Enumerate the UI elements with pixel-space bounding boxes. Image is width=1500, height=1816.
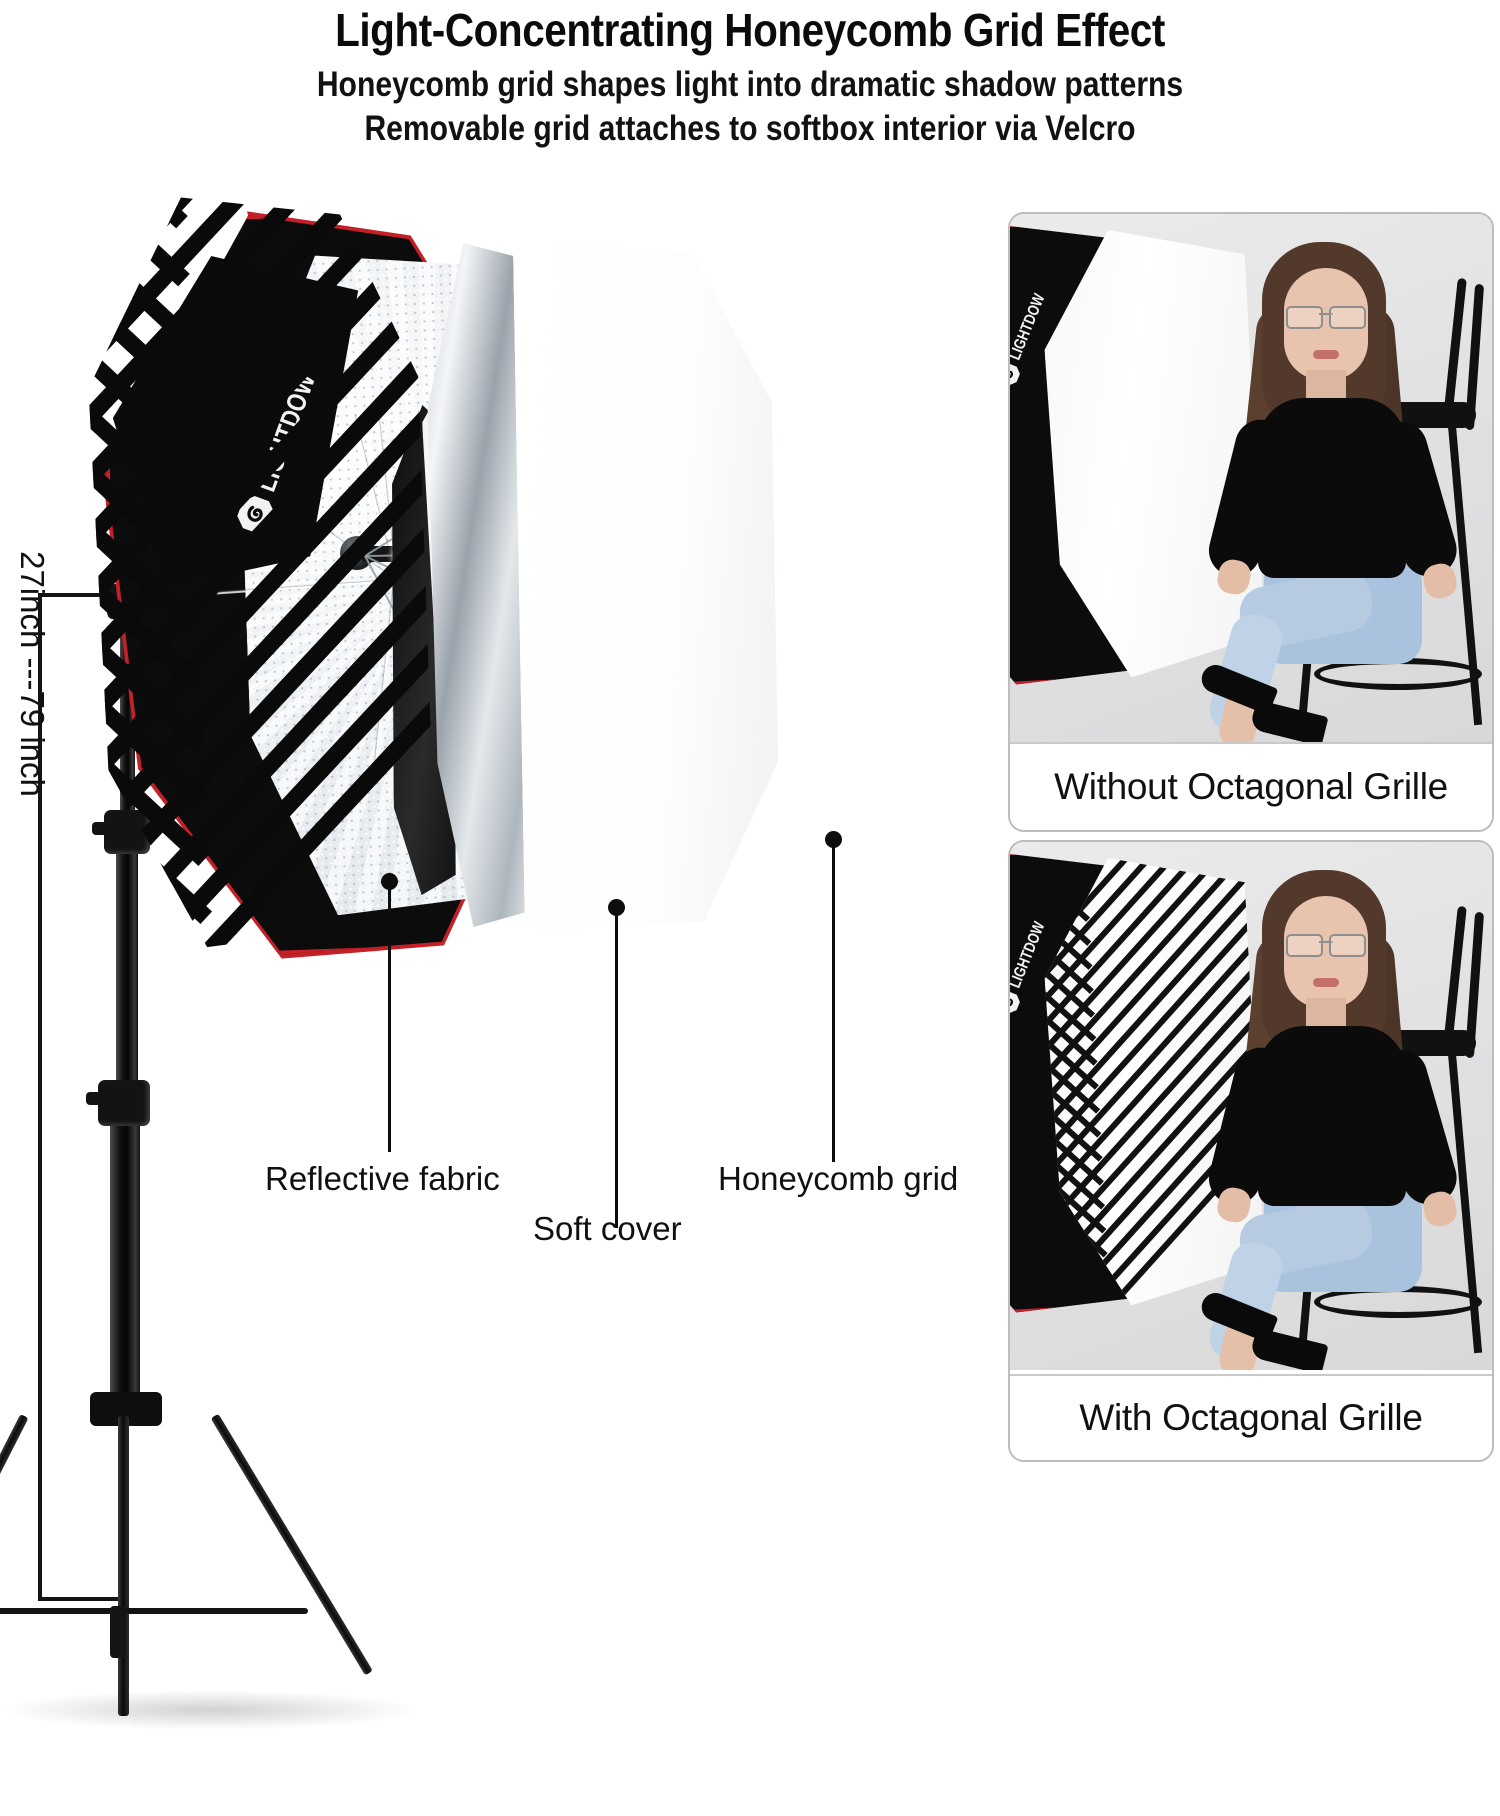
model-shoe-right: [1249, 1327, 1328, 1370]
octagon-swirl-logo-icon: [1010, 360, 1023, 389]
honeycomb-grid-line: [1010, 1347, 1131, 1370]
eyeglass-lens-right: [1329, 306, 1366, 329]
octagon-swirl-logo-icon: [1010, 988, 1023, 1017]
tripod-leg-right: [211, 1414, 373, 1676]
stand-pole-lower: [110, 1100, 140, 1410]
callout-label-reflective-fabric: Reflective fabric: [265, 1160, 500, 1198]
honeycomb-grid-line: [1010, 842, 1086, 850]
eyeglass-lens-left: [1286, 306, 1323, 329]
product-diagram: 27inch ---79 inch: [0, 185, 1000, 1498]
tripod-brace-pin: [110, 1606, 126, 1658]
model-eyeglasses: [1284, 306, 1368, 326]
subtitle-line-2: Removable grid attaches to softbox inter…: [105, 108, 1395, 150]
model-figure: [1178, 850, 1478, 1370]
honeycomb-grid-line: [1010, 1323, 1130, 1370]
comparison-panel-without-grille[interactable]: LIGHTDOW: [1008, 212, 1494, 832]
height-range-label: 27inch ---79 inch: [13, 494, 51, 854]
model-lips: [1313, 978, 1339, 987]
tripod-leg-center: [118, 1416, 129, 1716]
callout-label-soft-cover: Soft cover: [533, 1210, 682, 1248]
model-shoe-right: [1249, 699, 1328, 742]
model-lips: [1313, 350, 1339, 359]
caption-with-grille: With Octagonal Grille: [1010, 1374, 1492, 1460]
model-figure: [1178, 222, 1478, 742]
octagonal-softbox-exploded: LIGHTDOW®: [95, 195, 935, 985]
page-title: Light-Concentrating Honeycomb Grid Effec…: [90, 0, 1410, 56]
header: Light-Concentrating Honeycomb Grid Effec…: [0, 0, 1500, 180]
callout-line-honeycomb-grid: [832, 840, 835, 1162]
eyeglass-lens-left: [1286, 934, 1323, 957]
honeycomb-grid-panel: [82, 189, 438, 950]
callout-line-reflective-fabric: [388, 882, 391, 1152]
honeycomb-grid-lattice: [82, 189, 438, 950]
tripod-brace-left: [0, 1608, 126, 1614]
ground-shadow: [0, 1690, 420, 1730]
photo-with-grille: LIGHTDOW: [1010, 842, 1492, 1370]
comparison-panel-with-grille[interactable]: LIGHTDOW: [1008, 840, 1494, 1462]
subtitle-line-1: Honeycomb grid shapes light into dramati…: [105, 64, 1395, 106]
callout-label-honeycomb-grid: Honeycomb grid: [718, 1160, 958, 1198]
model-eyeglasses: [1284, 934, 1368, 954]
photo-without-grille: LIGHTDOW: [1010, 214, 1492, 742]
eyeglass-lens-right: [1329, 934, 1366, 957]
tripod-leg-left: [0, 1414, 29, 1685]
caption-without-grille: Without Octagonal Grille: [1010, 742, 1492, 830]
tripod-brace-right: [122, 1608, 308, 1614]
callout-line-soft-cover: [615, 908, 618, 1228]
stand-lock-knob-lower: [98, 1080, 150, 1126]
